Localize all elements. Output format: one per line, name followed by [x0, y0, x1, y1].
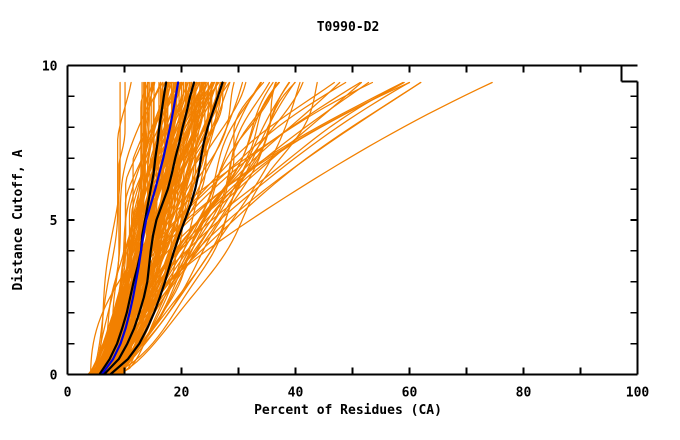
x-tick-label: 80: [516, 386, 532, 401]
y-tick-label: 0: [50, 369, 58, 384]
page-title: T0990-D2: [317, 20, 380, 35]
x-axis-label: Percent of Residues (CA): [254, 403, 442, 418]
accuracy-plot: T0990-D2 Percent of Residues (CA) Distan…: [0, 0, 680, 440]
x-tick-label: 60: [402, 386, 418, 401]
y-tick-label: 5: [50, 214, 58, 229]
x-tick-label: 40: [288, 386, 304, 401]
y-tick-label: 10: [42, 60, 58, 75]
x-tick-label: 100: [626, 386, 650, 401]
x-tick-label: 0: [64, 386, 72, 401]
x-tick-label: 20: [174, 386, 190, 401]
chart-page: T0990-D2 Percent of Residues (CA) Distan…: [0, 0, 680, 440]
y-axis-label: Distance Cutoff, A: [11, 149, 26, 290]
